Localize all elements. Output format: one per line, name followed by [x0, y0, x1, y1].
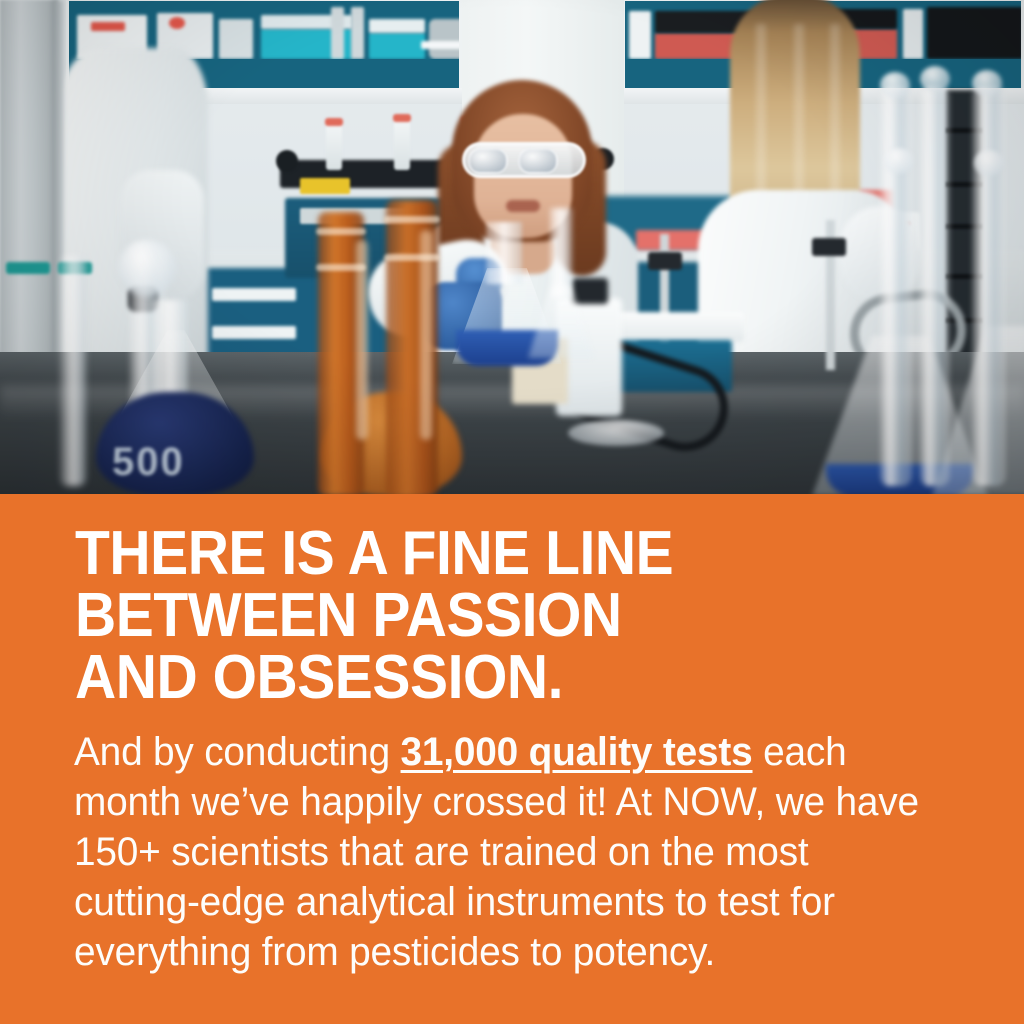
flask-held-neck — [486, 222, 522, 284]
instrument-yellow-label — [300, 178, 350, 194]
safety-goggles-lens-right — [518, 148, 558, 174]
condenser-bead-4 — [884, 148, 914, 174]
amber-highlight-2 — [420, 230, 432, 440]
page-title: THERE IS A FINE LINE BETWEEN PASSION AND… — [75, 523, 885, 709]
retort-stand-clamp-2 — [648, 252, 682, 270]
vial-cap-1 — [325, 118, 343, 126]
flask-secondary — [528, 208, 594, 358]
amber-ring-3 — [384, 216, 440, 223]
stat-quality-tests: 31,000 quality tests — [401, 730, 753, 774]
safety-goggles-lens-left — [468, 148, 508, 174]
rack-knob-left — [276, 150, 298, 172]
vial-1 — [326, 122, 342, 170]
social-graphic: 500 — [0, 0, 1024, 1024]
body-copy: And by conducting 31,000 quality tests e… — [74, 727, 928, 977]
pipette-foreground — [60, 256, 86, 486]
condenser-2 — [920, 86, 950, 486]
flask-500-neck — [152, 300, 188, 406]
laboratory-photo: 500 — [0, 0, 1024, 494]
watch-glass — [568, 420, 664, 446]
condenser-bead-3 — [972, 70, 1002, 96]
condenser-1 — [880, 86, 912, 486]
condenser-3 — [972, 86, 1006, 486]
body-copy-before: And by conducting — [74, 730, 401, 774]
glass-bulb-left — [118, 240, 176, 296]
flask-500-label: 500 — [112, 440, 222, 485]
instrument-label-2 — [212, 326, 296, 339]
amber-ring-4 — [384, 254, 440, 261]
teal-tape-left — [6, 262, 50, 274]
retort-stand-clamp — [812, 238, 846, 256]
amber-ring-1 — [316, 228, 366, 235]
condenser-bead-5 — [974, 150, 1004, 176]
condenser-bead-1 — [880, 72, 910, 98]
instrument-label-1 — [212, 288, 296, 301]
orange-text-panel: THERE IS A FINE LINE BETWEEN PASSION AND… — [0, 494, 1024, 1024]
condenser-bead-2 — [920, 66, 950, 92]
amber-ring-2 — [316, 264, 366, 271]
